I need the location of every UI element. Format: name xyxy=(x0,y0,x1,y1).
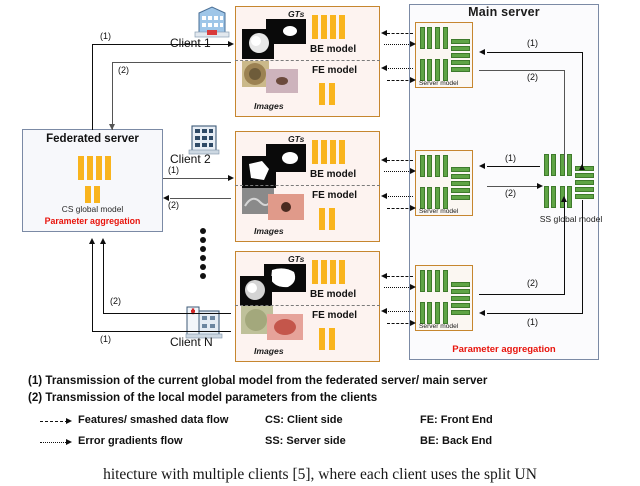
be-model-label: BE model xyxy=(310,169,356,180)
arrowhead-client2-gradients-2 xyxy=(381,193,387,199)
ss-mid-line2 xyxy=(487,186,540,187)
ss-bar xyxy=(575,173,594,178)
ss-bot-line2-h xyxy=(479,294,565,295)
arrowhead-clientn-features xyxy=(381,273,387,279)
server-model-box-2[interactable]: Server model xyxy=(415,150,473,216)
server-bar xyxy=(435,187,440,209)
images-label: Images xyxy=(254,101,284,111)
server-bar xyxy=(427,59,432,81)
server-bar xyxy=(451,289,470,294)
server-bar xyxy=(427,155,432,177)
server-bar xyxy=(420,27,425,49)
label-client1-1: (1) xyxy=(100,31,111,41)
fed-client2-line2 xyxy=(170,198,231,199)
server-bar xyxy=(451,188,470,193)
server-bar xyxy=(451,195,470,200)
server-bar xyxy=(435,27,440,49)
server-bar xyxy=(451,46,470,51)
client-bar xyxy=(87,156,93,180)
client2-gradients-dotted-2 xyxy=(384,196,413,197)
client-1-label: Client 1 xyxy=(170,36,211,50)
client2-gradients-dotted xyxy=(384,171,413,172)
fe-bar xyxy=(319,208,325,230)
ss-top-line1-h xyxy=(487,52,583,53)
server-bar xyxy=(420,270,425,292)
ss-top-line2-v xyxy=(564,70,565,166)
server-bar xyxy=(435,155,440,177)
be-bar xyxy=(312,140,318,164)
fed-clientn-line2-h xyxy=(103,313,231,314)
ss-bot-line1-h xyxy=(487,313,583,314)
server-model-label: Server model xyxy=(419,323,458,330)
server-bar xyxy=(451,53,470,58)
server-bar xyxy=(443,187,448,209)
legend-fe-label: FE: Front End xyxy=(420,414,493,426)
server-bar xyxy=(451,174,470,179)
label-client1-2: (2) xyxy=(118,65,129,75)
server-bar xyxy=(427,302,432,324)
client-1-box[interactable]: GTs Images BE model FE model xyxy=(235,6,380,117)
label-clientn-2: (2) xyxy=(110,296,121,306)
be-bar xyxy=(312,260,318,284)
server-bar xyxy=(435,59,440,81)
server-bar xyxy=(443,59,448,81)
image-thumb xyxy=(266,69,298,93)
ss-bar xyxy=(575,187,594,192)
client-split-divider xyxy=(235,185,380,186)
be-bar xyxy=(339,15,345,39)
main-server-title: Main server xyxy=(409,5,599,19)
client1-features-dashed xyxy=(387,33,413,34)
server-bar xyxy=(443,155,448,177)
server-bar xyxy=(451,282,470,287)
be-bar xyxy=(321,140,327,164)
server-bar xyxy=(451,303,470,308)
federated-parameter-aggregation-label: Parameter aggregation xyxy=(22,216,163,226)
client-bar xyxy=(105,156,111,180)
arrowhead-client2-gradients xyxy=(410,168,416,174)
legend-dashed-line-icon xyxy=(40,421,68,422)
label-server2-2: (2) xyxy=(505,188,516,198)
gts-label: GTs xyxy=(288,9,304,19)
server-bar xyxy=(427,270,432,292)
image-thumb xyxy=(242,61,269,87)
fe-model-label: FE model xyxy=(312,190,357,201)
server-bar xyxy=(427,27,432,49)
label-server1-1: (1) xyxy=(527,38,538,48)
server-bar xyxy=(451,296,470,301)
be-bar xyxy=(321,15,327,39)
legend-dotted-arrowhead-icon xyxy=(66,439,72,445)
arrowhead-clientn-gradients-2 xyxy=(381,308,387,314)
client-n-label: Client N xyxy=(170,335,213,349)
be-bar xyxy=(330,140,336,164)
be-bar xyxy=(330,260,336,284)
arrowhead-client2-features-2 xyxy=(410,205,416,211)
server-bar xyxy=(420,59,425,81)
server-bar xyxy=(451,167,470,172)
fe-bar xyxy=(329,83,335,105)
main-server-parameter-aggregation-label: Parameter aggregation xyxy=(409,344,599,355)
legend-dotted-label: Error gradients flow xyxy=(78,435,183,447)
ss-bot-line1-v xyxy=(582,200,583,314)
ss-top-line1-v xyxy=(582,52,583,168)
ss-bar xyxy=(575,180,594,185)
arrowhead-fed-in-1 xyxy=(109,124,115,130)
arrowhead-client2-features xyxy=(381,157,387,163)
arrowhead-clientn-features-2 xyxy=(410,320,416,326)
be-bar xyxy=(330,15,336,39)
server-bar xyxy=(451,181,470,186)
images-label: Images xyxy=(254,226,284,236)
clientn-features-dashed xyxy=(387,276,413,277)
server-bar xyxy=(451,310,470,315)
server-bar xyxy=(420,155,425,177)
ss-bar xyxy=(551,154,556,176)
ss-bot-line2-v xyxy=(564,200,565,295)
arrowhead-server2-in-1 xyxy=(479,163,485,169)
fe-bar xyxy=(319,83,325,105)
client-2-box[interactable]: GTs Images BE model FE model xyxy=(235,131,380,242)
fed-client2-line1 xyxy=(163,178,231,179)
be-bar xyxy=(321,260,327,284)
fed-client1-line2-h xyxy=(112,62,231,63)
label-server1-2: (2) xyxy=(527,72,538,82)
server-bar xyxy=(443,27,448,49)
server-bar xyxy=(451,60,470,65)
arrowhead-ss-in-a xyxy=(561,196,567,202)
arrowhead-client1-in xyxy=(228,41,234,47)
legend-dashed-arrowhead-icon xyxy=(66,418,72,424)
server-model-box-1[interactable]: Server model xyxy=(415,22,473,88)
client-2-label: Client 2 xyxy=(170,152,211,166)
client-bar xyxy=(94,186,100,203)
client-n-box[interactable]: GTs Images BE model FE model xyxy=(235,251,380,362)
legend-be-label: BE: Back End xyxy=(420,435,492,447)
label-client2-2: (2) xyxy=(168,200,179,210)
legend-ss-label: SS: Server side xyxy=(265,435,346,447)
client2-features-dashed xyxy=(387,160,413,161)
label-server2-1: (1) xyxy=(505,153,516,163)
label-server3-2: (2) xyxy=(527,278,538,288)
ss-mid-line1 xyxy=(487,166,540,167)
server-model-label: Server model xyxy=(419,80,458,87)
clientn-gradients-dotted-2 xyxy=(384,311,413,312)
cs-global-model-label: CS global model xyxy=(22,204,163,214)
arrowhead-fed-in-n2 xyxy=(100,238,106,244)
gt-mask-thumb xyxy=(240,276,272,306)
server-bar xyxy=(420,187,425,209)
fe-bar xyxy=(329,328,335,350)
client-split-divider xyxy=(235,60,380,61)
arrowhead-fed-in-n1 xyxy=(89,238,95,244)
fe-model-label: FE model xyxy=(312,310,357,321)
ss-global-model-label: SS global model xyxy=(521,214,621,224)
label-clientn-1: (1) xyxy=(100,334,111,344)
arrowhead-ss-in-2 xyxy=(537,183,543,189)
fe-bar xyxy=(319,328,325,350)
clientn-gradients-dotted xyxy=(384,287,413,288)
client-bar xyxy=(96,156,102,180)
fed-clientn-line2-v xyxy=(103,242,104,314)
image-thumb xyxy=(267,314,303,340)
arrowhead-client1-features xyxy=(381,30,387,36)
server-bar xyxy=(451,39,470,44)
fed-client1-line2-v xyxy=(112,62,113,130)
gts-label: GTs xyxy=(288,254,304,264)
client1-gradients-dotted-2 xyxy=(384,68,413,69)
fed-clientn-line1-h xyxy=(92,331,231,332)
federated-server-title: Federated server xyxy=(22,133,163,145)
legend-note-1: (1) Transmission of the current global m… xyxy=(28,374,487,387)
arrowhead-client1-gradients-2 xyxy=(381,65,387,71)
client-bar xyxy=(85,186,91,203)
ss-top-line2-h xyxy=(479,70,565,71)
fe-bar xyxy=(329,208,335,230)
image-thumb xyxy=(268,194,304,220)
fed-clientn-line1-v xyxy=(92,242,93,332)
server-model-box-3[interactable]: Server model xyxy=(415,265,473,331)
arrowhead-client2-in xyxy=(228,175,234,181)
ss-bar xyxy=(544,186,549,208)
gt-mask-thumb xyxy=(242,156,276,188)
images-label: Images xyxy=(254,346,284,356)
arrowhead-server3-in-1 xyxy=(479,310,485,316)
fed-client1-line1-h xyxy=(92,44,231,45)
legend-cs-label: CS: Client side xyxy=(265,414,343,426)
server-bar xyxy=(435,270,440,292)
be-bar xyxy=(312,15,318,39)
server-bar xyxy=(435,302,440,324)
arrowhead-ss-in-b xyxy=(579,164,585,170)
arrowhead-clientn-gradients xyxy=(410,284,416,290)
be-model-label: BE model xyxy=(310,44,356,55)
gt-mask-thumb xyxy=(242,29,274,59)
client1-gradients-dotted xyxy=(384,44,413,45)
server-bar xyxy=(443,270,448,292)
be-model-label: BE model xyxy=(310,289,356,300)
be-bar xyxy=(339,260,345,284)
cs-global-model-bottom-bars xyxy=(85,186,105,203)
cs-global-model-top-bars xyxy=(78,156,116,180)
ss-bar xyxy=(551,186,556,208)
server-bar xyxy=(420,302,425,324)
client-bar xyxy=(78,156,84,180)
fed-client1-line1-v xyxy=(92,44,93,130)
client-split-divider xyxy=(235,305,380,306)
server-bar xyxy=(427,187,432,209)
ss-global-model[interactable] xyxy=(540,150,602,216)
label-server3-1: (1) xyxy=(527,317,538,327)
ss-bar xyxy=(544,154,549,176)
server-bar xyxy=(451,67,470,72)
fe-model-label: FE model xyxy=(312,65,357,76)
label-client2-1: (1) xyxy=(168,165,179,175)
ss-bar xyxy=(567,154,572,176)
server-bar xyxy=(443,302,448,324)
arrowhead-client1-gradients xyxy=(410,41,416,47)
arrowhead-client1-features-2 xyxy=(410,77,416,83)
legend-note-2: (2) Transmission of the local model para… xyxy=(28,391,377,404)
server-model-label: Server model xyxy=(419,208,458,215)
ss-bar xyxy=(575,194,594,199)
legend-dashed-label: Features/ smashed data flow xyxy=(78,414,228,426)
figure-caption: hitecture with multiple clients [5], whe… xyxy=(0,466,640,484)
arrowhead-server1-in-1 xyxy=(479,49,485,55)
legend-dotted-line-icon xyxy=(40,442,68,443)
gts-label: GTs xyxy=(288,134,304,144)
be-bar xyxy=(339,140,345,164)
ss-bar xyxy=(567,186,572,208)
